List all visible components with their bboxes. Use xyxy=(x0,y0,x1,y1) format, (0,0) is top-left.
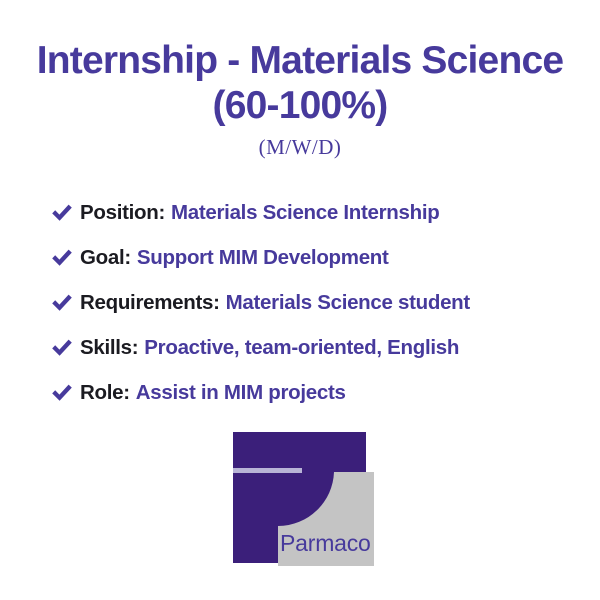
parmaco-logo: Parmaco xyxy=(233,432,374,566)
check-icon xyxy=(50,292,74,314)
list-item-value: Materials Science student xyxy=(226,291,470,315)
check-icon xyxy=(50,382,74,404)
list-item-value: Proactive, team-oriented, English xyxy=(144,336,459,360)
list-item-label: Position: xyxy=(80,201,165,225)
list-item-value: Assist in MIM projects xyxy=(136,381,346,405)
list-item: Position: Materials Science Internship xyxy=(50,190,570,235)
title-line-2: (60-100%) xyxy=(0,83,600,128)
list-item-label: Role: xyxy=(80,381,130,405)
list-item: Role: Assist in MIM projects xyxy=(50,370,570,415)
title-line-1: Internship - Materials Science xyxy=(0,38,600,83)
list-item-label: Goal: xyxy=(80,246,131,270)
check-icon xyxy=(50,337,74,359)
details-list: Position: Materials Science Internship G… xyxy=(50,190,570,415)
list-item: Skills: Proactive, team-oriented, Englis… xyxy=(50,325,570,370)
list-item-value: Materials Science Internship xyxy=(171,201,439,225)
list-item-value: Support MIM Development xyxy=(137,246,389,270)
list-item-label: Skills: xyxy=(80,336,138,360)
list-item: Goal: Support MIM Development xyxy=(50,235,570,280)
check-icon xyxy=(50,202,74,224)
list-item: Requirements: Materials Science student xyxy=(50,280,570,325)
job-posting-poster: Internship - Materials Science (60-100%)… xyxy=(0,0,600,600)
list-item-label: Requirements: xyxy=(80,291,220,315)
logo-wordmark: Parmaco xyxy=(280,530,371,556)
check-icon xyxy=(50,247,74,269)
page-title: Internship - Materials Science (60-100%)… xyxy=(0,38,600,160)
page-subtitle: (M/W/D) xyxy=(0,134,600,160)
